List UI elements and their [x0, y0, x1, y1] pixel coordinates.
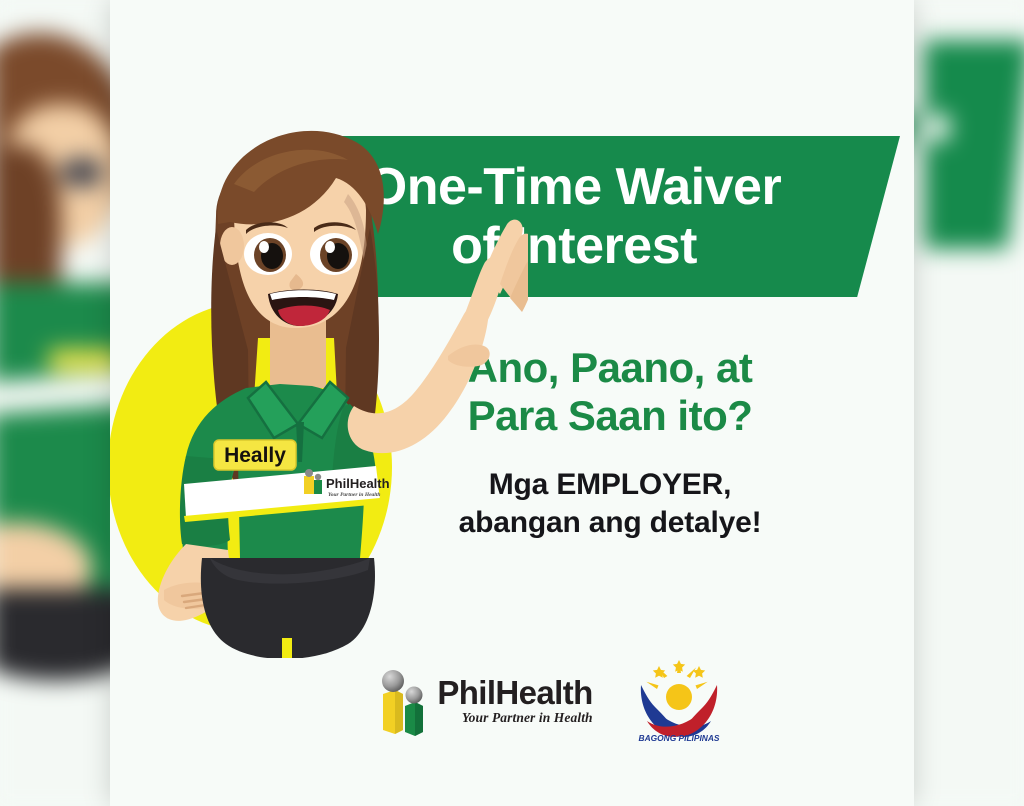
philhealth-wordmark: PhilHealth Your Partner in Health [437, 676, 592, 725]
uniform-logo-tagline: Your Partner in Health [328, 492, 380, 498]
poster-card: One-Time Waiver of Interest Ano, Paano, … [110, 0, 914, 806]
philhealth-logo: PhilHealth Your Partner in Health [375, 664, 592, 736]
eye-glint-right [325, 241, 335, 253]
logo-row: PhilHealth Your Partner in Health [360, 645, 740, 755]
philhealth-tagline: Your Partner in Health [437, 711, 592, 725]
backdrop-eye [59, 157, 104, 188]
bp-wordmark: BAGONG PILIPINAS [638, 733, 719, 743]
philhealth-name: PhilHealth [437, 676, 592, 709]
eye-glint-left [259, 241, 269, 253]
neck [270, 318, 326, 388]
mascot-illustration: Heally PhilHealth Your Partner in Health [110, 88, 528, 658]
bagong-pilipinas-logo: BAGONG PILIPINAS [633, 657, 725, 743]
poster-canvas: One-Time Waiver of Interest Ano, Paano, … [0, 0, 1024, 806]
backdrop-banner-notch [926, 112, 950, 143]
backdrop-green-banner [924, 40, 1024, 249]
name-badge-text: Heally [224, 444, 286, 467]
uniform-logo-name: PhilHealth [326, 476, 390, 491]
philhealth-mark-icon [375, 664, 433, 736]
name-badge: Heally [214, 440, 296, 470]
shorts-tab [282, 638, 292, 658]
subline-emphasis: EMPLOYER [556, 468, 723, 501]
subline-suffix: , [723, 468, 731, 501]
